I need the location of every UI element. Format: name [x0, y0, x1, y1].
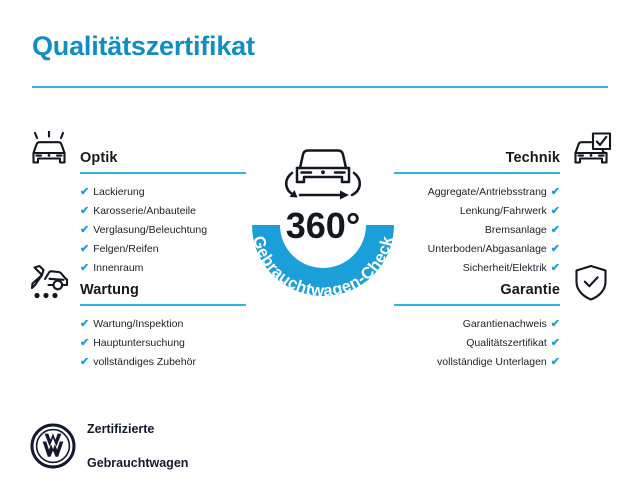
list-item: ✔Verglasung/Beleuchtung — [80, 221, 252, 240]
list-item: vollständige Unterlagen✔ — [388, 353, 560, 372]
car-checkbox-icon — [564, 128, 618, 174]
section-wartung: Wartung ✔Wartung/Inspektion ✔Hauptunters… — [22, 260, 252, 372]
section-title-wartung: Wartung — [80, 282, 139, 298]
list-item-label: Unterboden/Abgasanlage — [428, 243, 547, 255]
list-item: ✔Wartung/Inspektion — [80, 315, 252, 334]
section-technik: Technik Aggregate/Antriebsstrang✔ Lenkun… — [388, 128, 618, 278]
section-header-wartung: Wartung — [22, 260, 252, 306]
check-icon: ✔ — [80, 221, 89, 240]
section-title-optik: Optik — [80, 150, 118, 166]
check-icon: ✔ — [551, 334, 560, 353]
list-item: Garantienachweis✔ — [388, 315, 560, 334]
section-header-garantie: Garantie — [388, 260, 618, 306]
list-item-label: Wartung/Inspektion — [93, 318, 183, 330]
checklist-wartung: ✔Wartung/Inspektion ✔Hauptuntersuchung ✔… — [22, 315, 252, 372]
page-title: Qualitätszertifikat — [32, 32, 255, 62]
list-item: ✔Karosserie/Anbauteile — [80, 202, 252, 221]
list-item-label: Verglasung/Beleuchtung — [93, 224, 207, 236]
check-icon: ✔ — [551, 183, 560, 202]
section-header-optik: Optik — [22, 128, 252, 174]
section-header-technik: Technik — [388, 128, 618, 174]
section-optik: Optik ✔Lackierung ✔Karosserie/Anbauteile… — [22, 128, 252, 278]
list-item-label: Lenkung/Fahrwerk — [460, 205, 547, 217]
section-title-technik: Technik — [506, 150, 560, 166]
section-garantie: Garantie Garantienachweis✔ Qualitätszert… — [388, 260, 618, 372]
shiny-car-icon — [22, 128, 76, 174]
section-divider-wartung — [80, 304, 246, 306]
footer-line-2: Gebrauchtwagen — [87, 455, 188, 472]
list-item: ✔vollständiges Zubehör — [80, 353, 252, 372]
title-divider — [32, 86, 608, 88]
check-icon: ✔ — [551, 315, 560, 334]
section-title-garantie: Garantie — [500, 282, 560, 298]
footer-line-1: Zertifizierte — [87, 421, 188, 438]
service-book-pen-car-icon — [22, 260, 76, 306]
list-item-label: Aggregate/Antriebsstrang — [428, 186, 547, 198]
section-divider-garantie — [394, 304, 560, 306]
list-item: Qualitätszertifikat✔ — [388, 334, 560, 353]
check-icon: ✔ — [80, 183, 89, 202]
check-icon: ✔ — [551, 202, 560, 221]
list-item-label: vollständige Unterlagen — [437, 356, 547, 368]
check-icon: ✔ — [80, 334, 89, 353]
list-item-label: Felgen/Reifen — [93, 243, 158, 255]
shield-check-icon — [564, 260, 618, 306]
certificate-page: Qualitätszertifikat Optik — [0, 0, 640, 480]
badge-center-label: 360° — [286, 205, 360, 246]
footer-branding: Zertifizierte Gebrauchtwagen — [30, 404, 188, 488]
list-item-label: Karosserie/Anbauteile — [93, 205, 196, 217]
list-item: ✔Lackierung — [80, 183, 252, 202]
badge-360-gebrauchtwagen-check: 360° Gebrauchtwagen-Check — [228, 120, 418, 315]
car-rotate-icon — [286, 151, 360, 200]
list-item-label: vollständiges Zubehör — [93, 356, 196, 368]
list-item-label: Qualitätszertifikat — [466, 337, 547, 349]
list-item-label: Hauptuntersuchung — [93, 337, 185, 349]
check-icon: ✔ — [80, 315, 89, 334]
check-icon: ✔ — [551, 240, 560, 259]
footer-text: Zertifizierte Gebrauchtwagen — [87, 404, 188, 488]
list-item: ✔Hauptuntersuchung — [80, 334, 252, 353]
check-icon: ✔ — [80, 353, 89, 372]
list-item-label: Garantienachweis — [463, 318, 547, 330]
check-icon: ✔ — [551, 221, 560, 240]
check-icon: ✔ — [80, 202, 89, 221]
list-item: ✔Felgen/Reifen — [80, 240, 252, 259]
volkswagen-logo — [30, 423, 76, 469]
check-icon: ✔ — [551, 353, 560, 372]
list-item-label: Lackierung — [93, 186, 144, 198]
list-item-label: Bremsanlage — [485, 224, 547, 236]
check-icon: ✔ — [80, 240, 89, 259]
section-divider-technik — [394, 172, 560, 174]
section-divider-optik — [80, 172, 246, 174]
checklist-garantie: Garantienachweis✔ Qualitätszertifikat✔ v… — [388, 315, 618, 372]
